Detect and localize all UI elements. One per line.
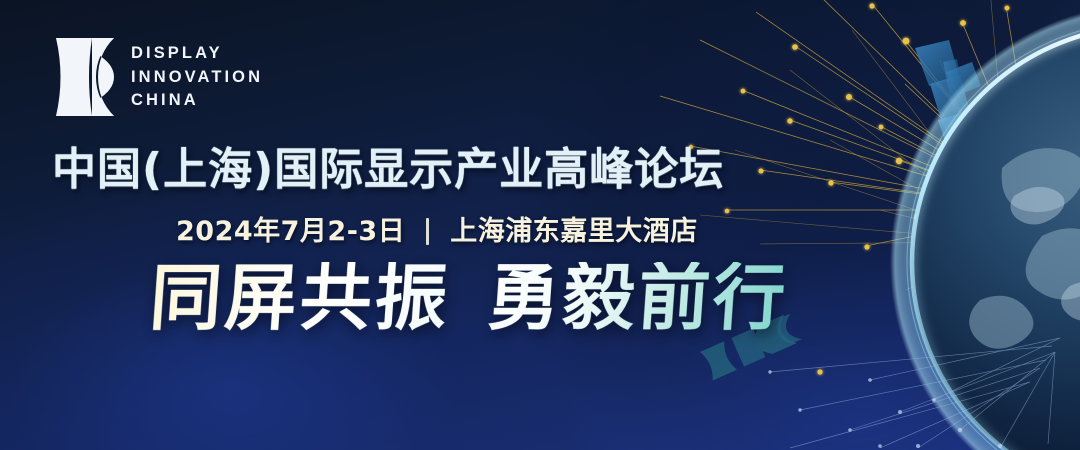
slogan-part-two: 勇毅前行 xyxy=(485,262,790,334)
earth-globe xyxy=(890,4,1080,450)
event-meta: 2024年7月2-3日 上海浦东嘉里大酒店 xyxy=(176,218,698,245)
brand-logo-wordmark: DISPLAY INNOVATION CHINA xyxy=(131,45,263,109)
event-slogan: 同屏共振 勇毅前行 xyxy=(150,262,788,334)
slogan-part-one: 同屏共振 xyxy=(147,262,452,334)
dic-monogram-icon xyxy=(56,38,114,116)
event-banner: DISPLAY INNOVATION CHINA 中国(上海)国际显示产业高峰论… xyxy=(0,0,1080,450)
logo-line-china: CHINA xyxy=(131,92,263,109)
brand-logo: DISPLAY INNOVATION CHINA xyxy=(56,38,263,116)
page-title: 中国(上海)国际显示产业高峰论坛 xyxy=(52,148,724,192)
logo-line-display: DISPLAY xyxy=(131,45,263,62)
logo-line-innovation: INNOVATION xyxy=(131,69,263,86)
event-date: 2024年7月2-3日 xyxy=(176,218,405,245)
meta-separator xyxy=(426,218,429,245)
event-venue: 上海浦东嘉里大酒店 xyxy=(450,218,698,245)
